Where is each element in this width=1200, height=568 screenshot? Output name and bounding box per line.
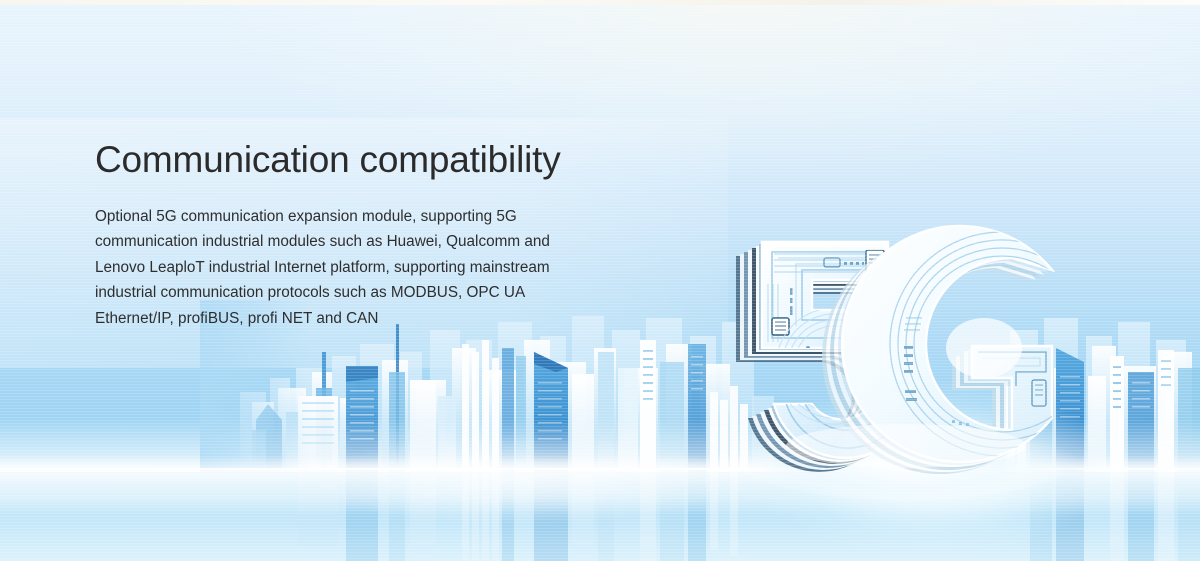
page-title: Communication compatibility: [95, 140, 561, 181]
copy-block: Communication compatibility Optional 5G …: [95, 140, 561, 332]
top-edge-strip: [0, 0, 1200, 5]
body-copy: Optional 5G communication expansion modu…: [95, 204, 561, 332]
bottom-edge-strip: [0, 561, 1200, 568]
body-line-3: Lenovo LeaploT industrial Internet platf…: [95, 255, 561, 281]
body-line-2: communication industrial modules such as…: [95, 229, 561, 255]
body-line-4: industrial communication protocols such …: [95, 280, 561, 306]
body-line-5: Ethernet/IP, profiBUS, profi NET and CAN: [95, 306, 561, 332]
body-line-1: Optional 5G communication expansion modu…: [95, 204, 561, 230]
5g-3d-logo: [716, 214, 1096, 514]
communication-compatibility-banner: Communication compatibility Optional 5G …: [0, 0, 1200, 568]
